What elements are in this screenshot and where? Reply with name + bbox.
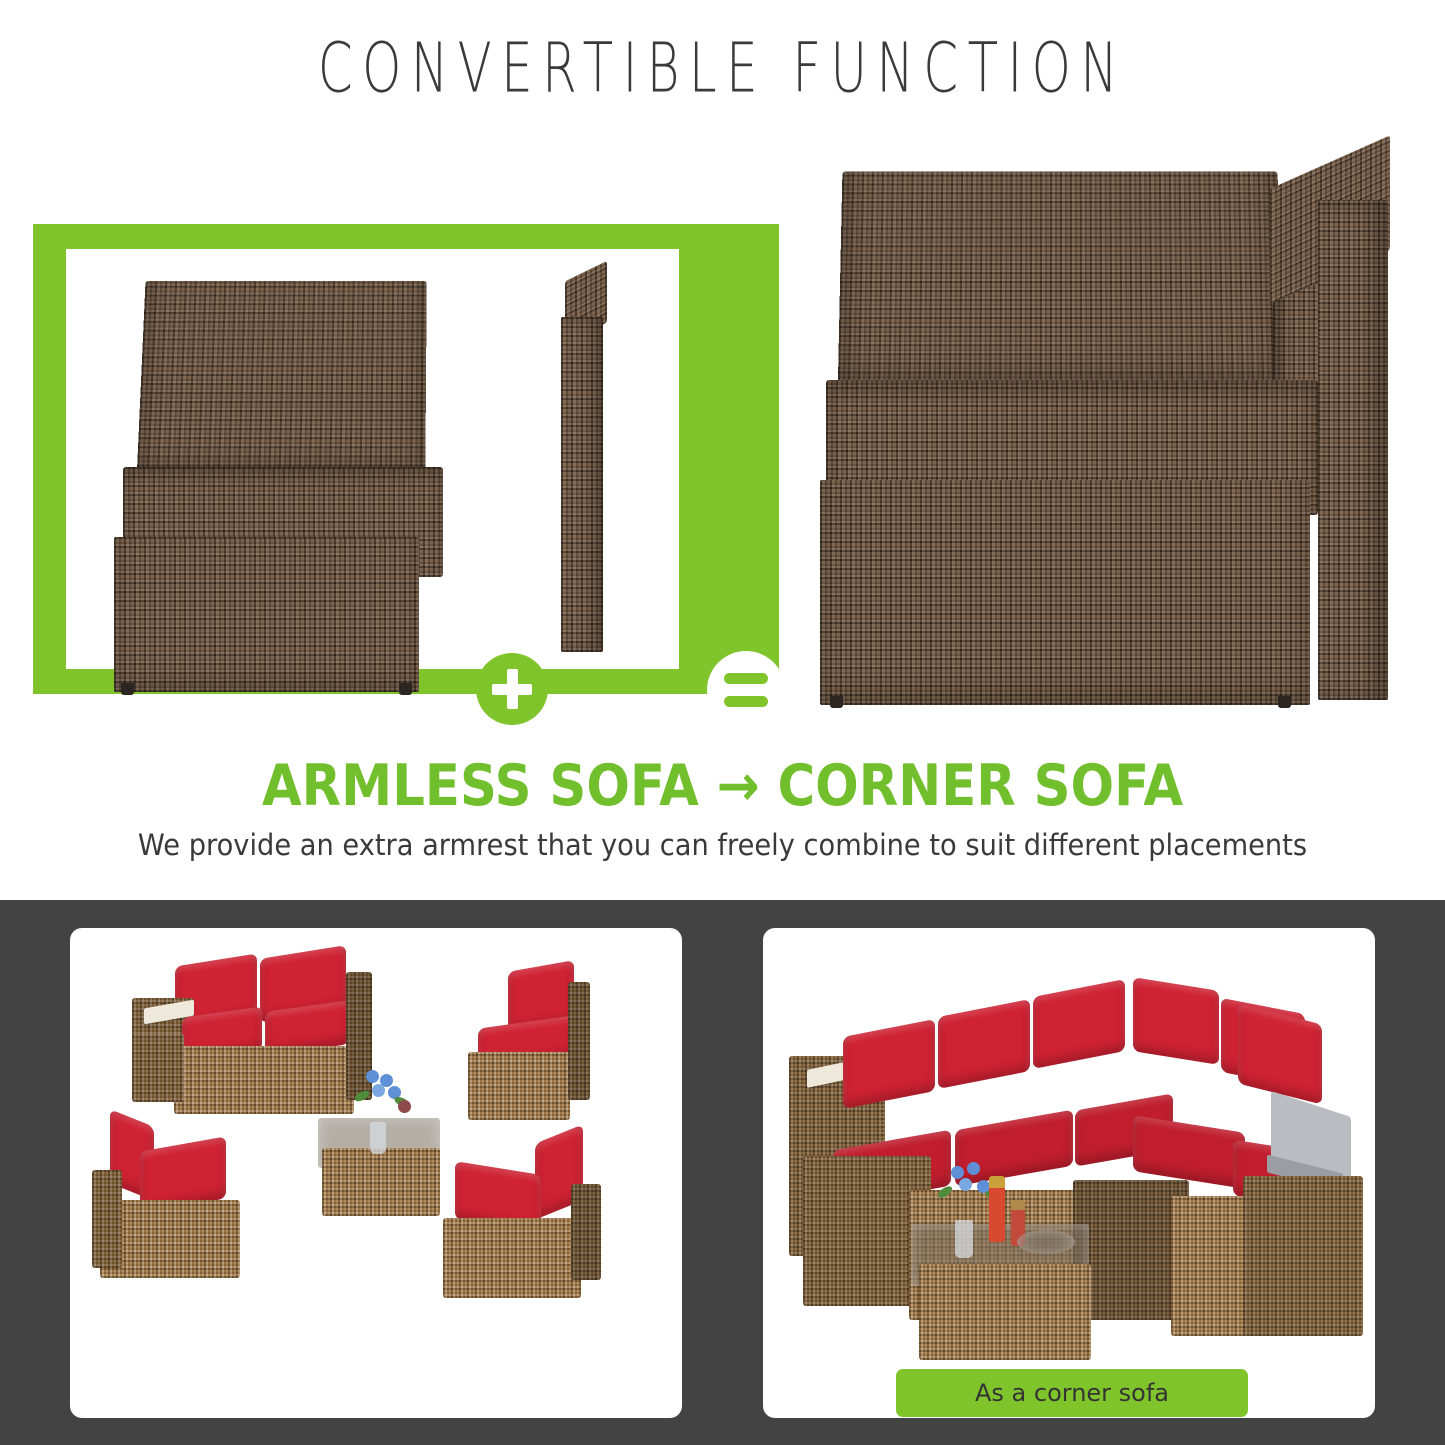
sofa-foot: [1278, 696, 1291, 708]
coffee-table: [310, 1104, 460, 1244]
sofa-foot: [121, 683, 134, 695]
corner-sofa-image: [818, 160, 1418, 740]
equals-bar-bottom: [724, 696, 768, 707]
showcase-panel-corner: [763, 928, 1375, 1418]
flower-arrangement: [937, 1162, 1017, 1242]
label-corner-sofa[interactable]: As a corner sofa: [896, 1369, 1248, 1417]
equals-bar-top: [724, 673, 768, 684]
sectional-right-arm: [1233, 1104, 1363, 1344]
top-section: CONVERTIBLE FUNCTION: [0, 0, 1445, 900]
showcase-section: As a armrest sofa: [0, 900, 1445, 1445]
equals-icon: [707, 651, 785, 729]
plus-icon: [476, 653, 548, 725]
bottle: [989, 1176, 1005, 1242]
armless-sofa-backrest: [136, 281, 426, 485]
armless-chair-module: [460, 966, 640, 1136]
corner-sofa-base: [820, 480, 1310, 705]
combination-frame-inner: [66, 249, 679, 669]
corner-sofa-armrest-side: [1318, 200, 1388, 700]
armless-sofa-base: [114, 537, 419, 692]
armrest-panel-image: [553, 271, 615, 651]
showcase-panel-armrest: [70, 928, 682, 1418]
sofa-foot: [830, 696, 843, 708]
armless-sofa-image: [111, 279, 441, 644]
corner-sofa-backrest: [838, 172, 1283, 401]
armrest-panel-body: [561, 317, 603, 652]
headline: ARMLESS SOFA → CORNER SOFA: [72, 753, 1373, 819]
coffee-table-sectional: [901, 1208, 1111, 1388]
corner-chair-module: [92, 1108, 302, 1298]
plus-vertical-bar: [507, 669, 518, 709]
sofa-foot: [399, 683, 412, 695]
combination-frame: [33, 224, 779, 694]
subtitle: We provide an extra armrest that you can…: [43, 828, 1401, 862]
label-corner-sofa-text: As a corner sofa: [975, 1379, 1169, 1407]
page-title: CONVERTIBLE FUNCTION: [101, 28, 1344, 108]
